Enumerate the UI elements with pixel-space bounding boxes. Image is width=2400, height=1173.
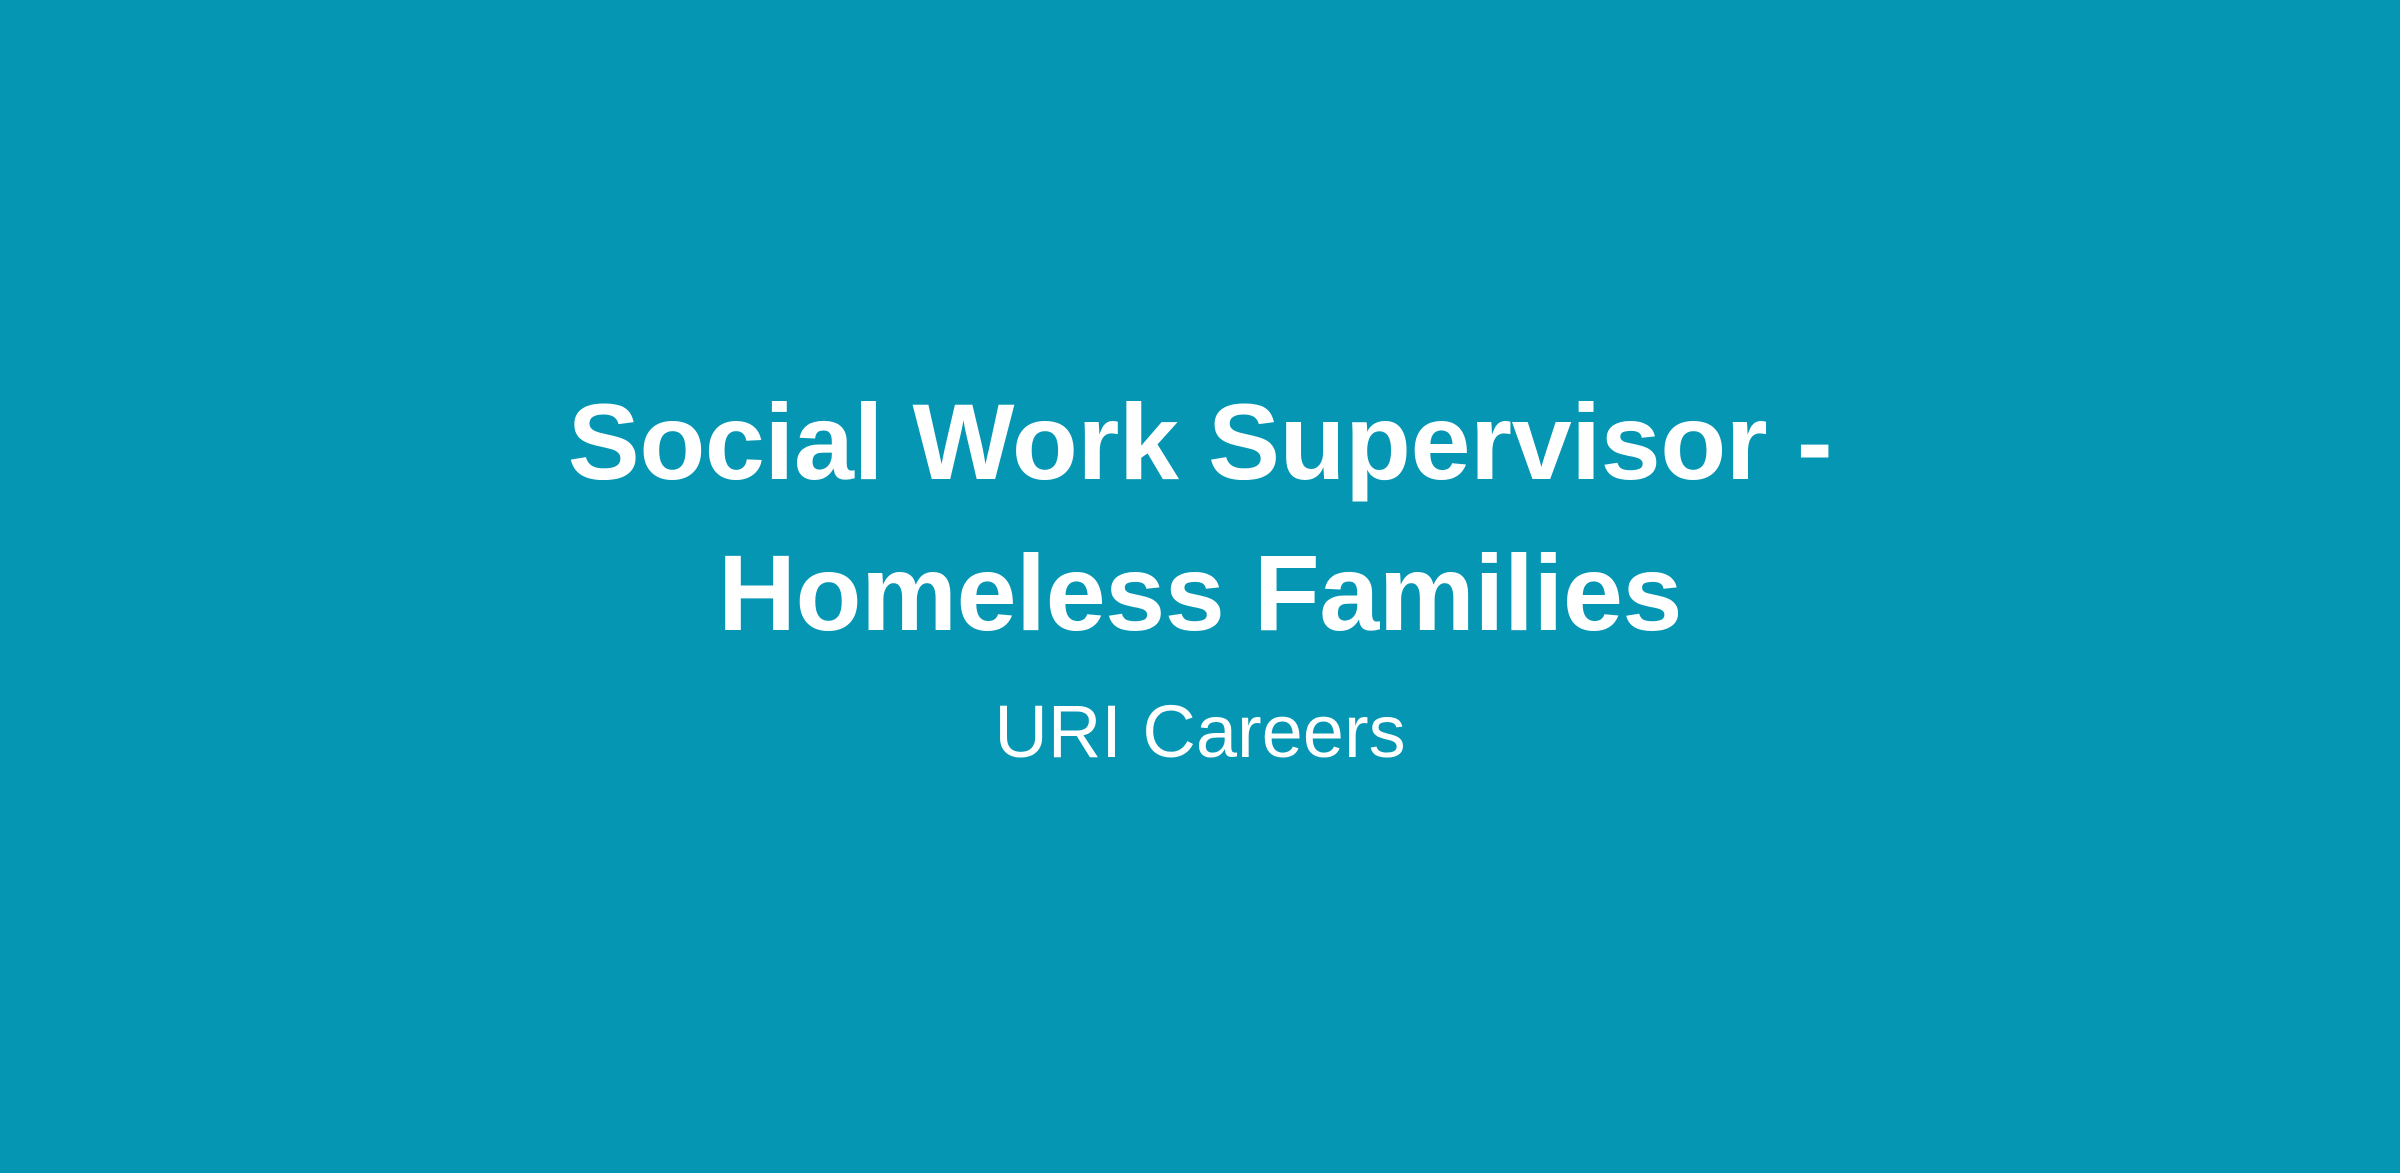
organization-subtitle: URI Careers: [994, 686, 1405, 779]
job-posting-share-card: Social Work Supervisor - Homeless Famili…: [0, 0, 2400, 1173]
page-title: Social Work Supervisor - Homeless Famili…: [420, 366, 1980, 668]
card-content: Social Work Supervisor - Homeless Famili…: [420, 366, 1980, 779]
